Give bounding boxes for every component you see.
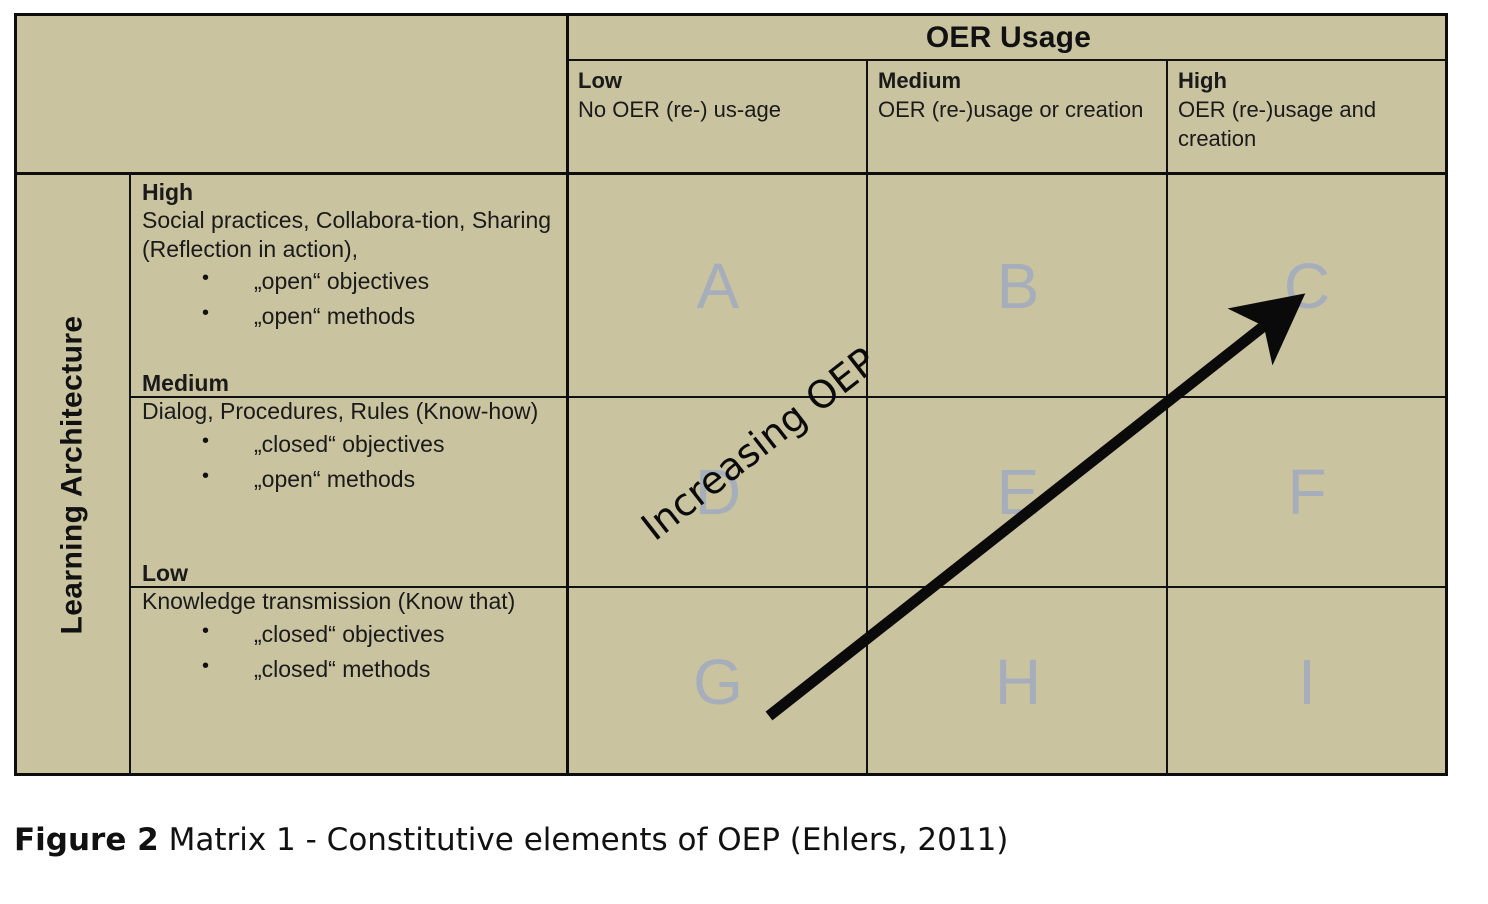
figure-caption: Figure 2 Matrix 1 - Constitutive element… [14,822,1414,858]
rule-h-title [566,59,1445,61]
row-header-high: High Social practices, Collabora-tion, S… [131,175,566,396]
column-header-medium-description: OER (re-)usage or creation [878,95,1167,124]
list-item: „open“ objectives [202,264,566,300]
column-header-low-description: No OER (re-) us-age [578,95,867,124]
rule-h-row2 [131,586,1445,588]
row-header-low-level: Low [142,559,566,587]
rule-v-col1 [866,59,868,776]
row-header-medium-summary: Dialog, Procedures, Rules (Know-how) [142,397,566,425]
oep-matrix-figure: OER Usage Low No OER (re-) us-age Medium… [14,13,1448,776]
row-header-low-bullets: „closed“ objectives „closed“ methods [142,617,566,688]
row-header-high-bullets: „open“ objectives „open“ methods [142,264,566,335]
column-header-low-level: Low [578,66,867,95]
rule-v-axis [129,172,131,776]
matrix-cell-i: I [1169,588,1445,776]
column-header-medium-level: Medium [878,66,1167,95]
rule-v-desc [566,16,569,776]
matrix-cell-f: F [1169,398,1445,586]
column-axis-title: OER Usage [569,16,1448,59]
row-header-medium: Medium Dialog, Procedures, Rules (Know-h… [131,366,566,554]
column-header-high-description: OER (re-)usage and creation [1178,95,1449,153]
column-header-medium: Medium OER (re-)usage or creation [869,62,1167,172]
matrix-grid: OER Usage Low No OER (re-) us-age Medium… [17,16,1445,773]
rule-v-col2 [1166,59,1168,776]
matrix-cell-b: B [869,175,1167,396]
row-header-high-summary: Social practices, Collabora-tion, Sharin… [142,206,566,263]
column-header-high: High OER (re-)usage and creation [1169,62,1449,172]
row-axis-title-text: Learning Architecture [56,315,90,634]
matrix-cell-h: H [869,588,1167,776]
row-header-medium-bullets: „closed“ objectives „open“ methods [142,427,566,498]
row-header-medium-level: Medium [142,369,566,397]
list-item: „closed“ methods [202,652,566,688]
row-header-low: Low Knowledge transmission (Know that) „… [131,556,566,746]
rule-h-header [17,172,1445,175]
column-header-high-level: High [1178,66,1449,95]
list-item: „open“ methods [202,462,566,498]
matrix-cell-a: A [569,175,867,396]
list-item: „open“ methods [202,299,566,335]
matrix-cell-c: C [1169,175,1445,396]
matrix-cell-e: E [869,398,1167,586]
column-header-low: Low No OER (re-) us-age [569,62,867,172]
figure-caption-text: Matrix 1 - Constitutive elements of OEP … [159,822,1009,858]
matrix-cell-g: G [569,588,867,776]
list-item: „closed“ objectives [202,617,566,653]
row-axis-title: Learning Architecture [17,173,128,776]
row-header-low-summary: Knowledge transmission (Know that) [142,587,566,615]
row-header-high-level: High [142,178,566,206]
figure-caption-label: Figure 2 [14,822,159,858]
list-item: „closed“ objectives [202,427,566,463]
